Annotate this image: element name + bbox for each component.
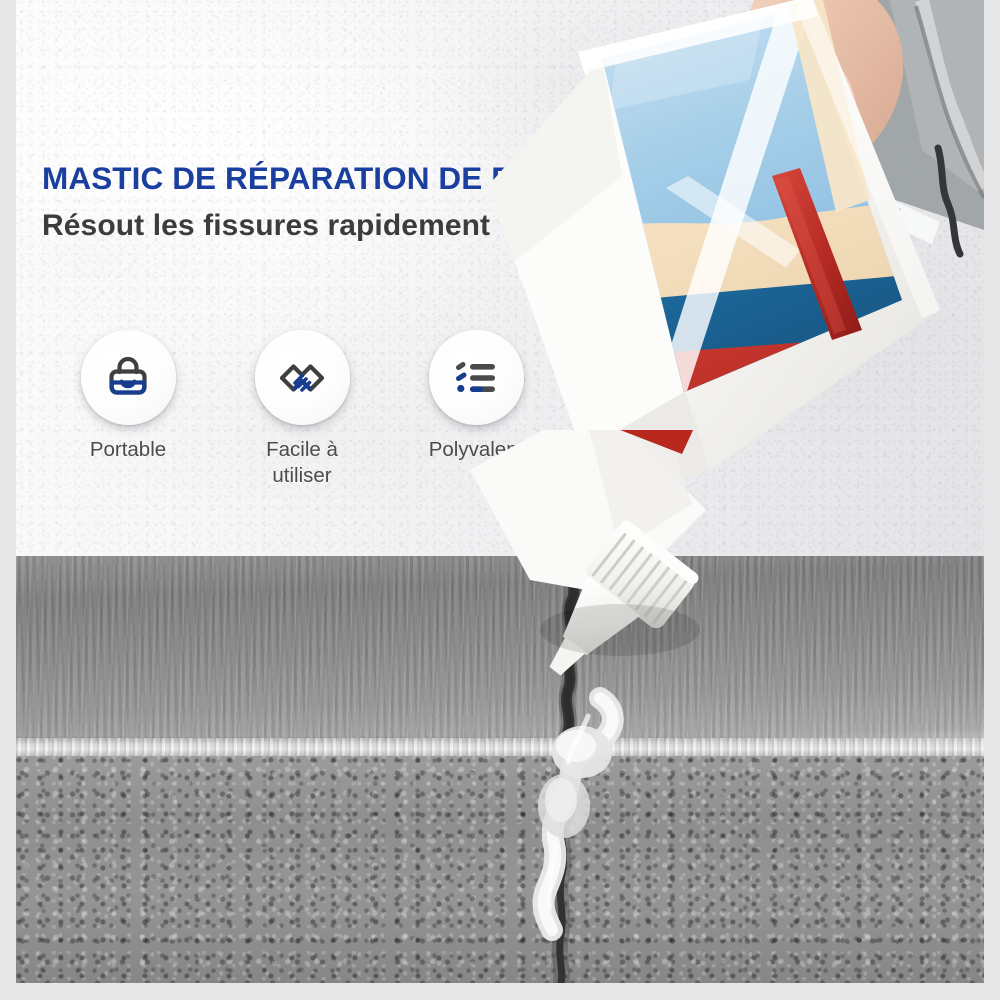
nozzle-assembly <box>470 430 830 750</box>
feature-list: Portable Facile à utiliser <box>66 330 538 489</box>
handshake-icon <box>273 349 331 407</box>
frame-margin-bottom <box>0 983 1000 1000</box>
frame-margin-left <box>0 0 16 1000</box>
feature-badge-circle <box>255 330 350 425</box>
product-banner: MASTIC DE RÉPARATION DE FISSURES Résout … <box>0 0 1000 1000</box>
page-subheadline: Résout les fissures rapidement <box>42 209 490 243</box>
feature-label: Portable <box>90 437 166 463</box>
feature-item-portable: Portable <box>66 330 190 489</box>
feature-label: Facile à utiliser <box>266 437 338 489</box>
handbag-smile-icon <box>100 350 156 406</box>
feature-item-easy-to-use: Facile à utiliser <box>240 330 364 489</box>
feature-badge-circle <box>81 330 176 425</box>
frame-margin-right <box>984 0 1000 1000</box>
